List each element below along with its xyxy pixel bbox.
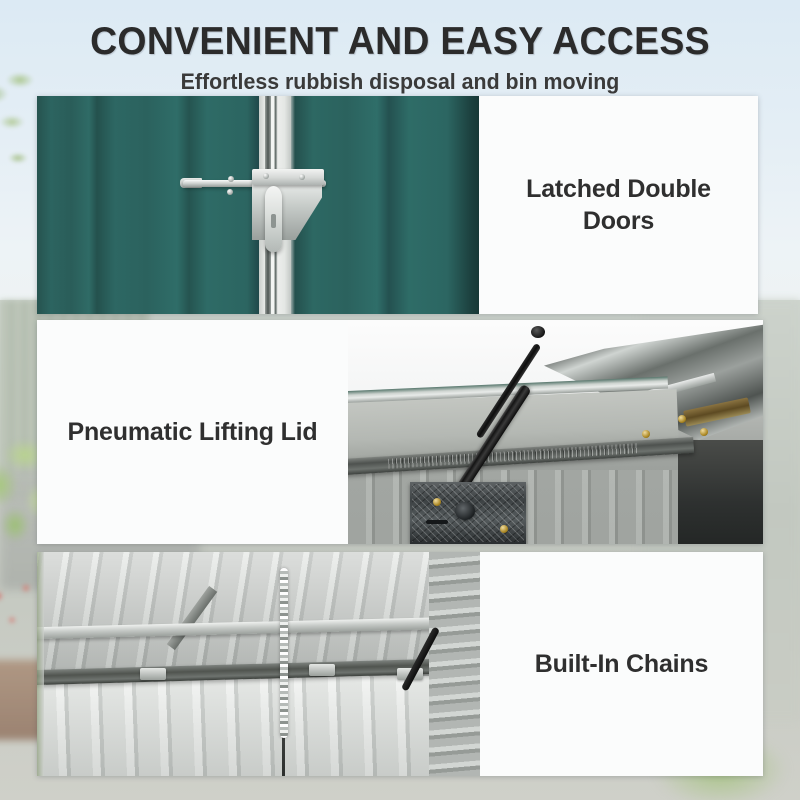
panel-caption-label: Built-In Chains — [535, 648, 708, 680]
bolt — [700, 428, 708, 436]
strut-bottom-joint — [455, 502, 475, 520]
pneumatic-lid-image — [348, 320, 763, 544]
feature-panel-built-in-chains: Built-In Chains — [37, 552, 763, 776]
panel-caption-area: Built-In Chains — [480, 552, 763, 776]
feature-panel-pneumatic-lifting-lid: Pneumatic Lifting Lid — [37, 320, 763, 544]
feature-panel-latched-double-doors: Latched Double Doors — [37, 96, 758, 314]
rivet — [263, 173, 269, 179]
rivet — [228, 176, 234, 182]
panel-caption-area: Latched Double Doors — [479, 96, 758, 314]
bolt — [678, 415, 686, 423]
bolt — [642, 430, 650, 438]
bracket-slot — [426, 520, 448, 524]
bolt — [500, 525, 508, 533]
rail-bracket — [140, 668, 166, 680]
interior-photo — [37, 552, 480, 776]
shed-dark-wall — [678, 440, 763, 544]
hanging-chain-icon — [280, 568, 288, 738]
header: CONVENIENT AND EASY ACCESS Effortless ru… — [0, 0, 800, 95]
strut-top-joint — [531, 326, 545, 338]
infographic-stage: CONVENIENT AND EASY ACCESS Effortless ru… — [0, 0, 800, 800]
page-title: CONVENIENT AND EASY ACCESS — [16, 0, 784, 62]
built-in-chains-image — [37, 552, 480, 776]
panel-caption-area: Pneumatic Lifting Lid — [37, 320, 348, 544]
interior-right-panel — [429, 552, 480, 776]
lid-photo — [348, 320, 763, 544]
wall-shading — [37, 676, 480, 776]
rivet — [227, 189, 233, 195]
latch-bracket — [252, 184, 322, 240]
panel-caption-label: Pneumatic Lifting Lid — [68, 416, 318, 448]
doors-photo — [37, 96, 479, 314]
green-shed-doors-image — [37, 96, 479, 314]
rivet — [299, 174, 305, 180]
padlock-slot — [271, 214, 276, 228]
rail-bracket — [309, 664, 335, 676]
interior-left-edge — [37, 552, 44, 776]
panel-caption-label: Latched Double Doors — [493, 173, 744, 237]
bolt — [433, 498, 441, 506]
page-subtitle: Effortless rubbish disposal and bin movi… — [12, 62, 788, 95]
